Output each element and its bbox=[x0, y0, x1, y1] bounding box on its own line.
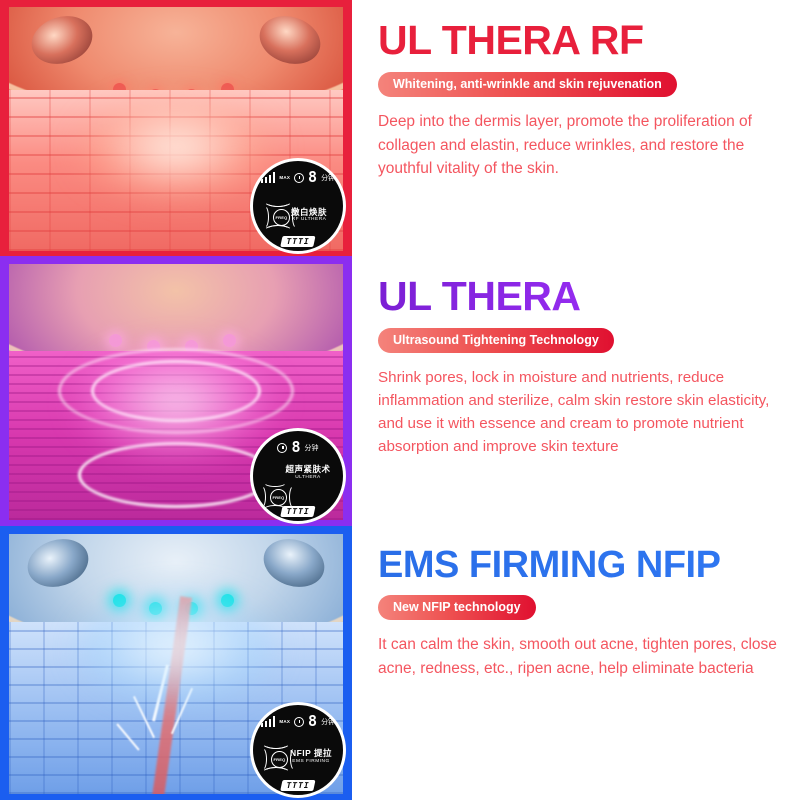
device-status-dial: MAX 8 分钟 FREQ NFIP 提拉 EMS FIRMING bbox=[250, 702, 346, 798]
feature-content-ulthera: UL THERA Ultrasound Tightening Technolog… bbox=[352, 256, 800, 526]
timer-unit: 分钟 bbox=[305, 443, 319, 453]
device-status-dial: 8 分钟 超声紧肤术 ULTHERA FREQ TTTI bbox=[250, 428, 346, 524]
dial-mode-cn: 超声紧肤术 bbox=[277, 465, 339, 475]
feature-panel-ulthera-rf: MAX 8 分钟 FREQ 嫩白焕肤 RF ULTHERA bbox=[0, 0, 800, 256]
energy-glow bbox=[72, 92, 279, 204]
panel-description: It can calm the skin, smooth out acne, t… bbox=[378, 633, 778, 680]
brand-tag: TTTI bbox=[280, 780, 316, 791]
panel-badge: Ultrasound Tightening Technology bbox=[378, 328, 614, 353]
panel-title: EMS FIRMING NFIP bbox=[378, 546, 786, 584]
dial-status-row: MAX 8 分钟 bbox=[253, 170, 343, 185]
product-image-ulthera: 8 分钟 超声紧肤术 ULTHERA FREQ TTTI bbox=[0, 256, 352, 526]
energy-glow bbox=[72, 343, 279, 461]
led-array bbox=[9, 37, 343, 61]
panel-description: Deep into the dermis layer, promote the … bbox=[378, 110, 778, 181]
timer-value: 8 bbox=[308, 714, 317, 729]
timer-unit: 分钟 bbox=[321, 717, 335, 727]
dial-mode-label: NFIP 提拉 EMS FIRMING bbox=[282, 749, 340, 764]
led-light bbox=[223, 334, 236, 347]
signal-bars-icon bbox=[261, 172, 276, 183]
infographic-sheet: MAX 8 分钟 FREQ 嫩白焕肤 RF ULTHERA bbox=[0, 0, 800, 800]
signal-max-label: MAX bbox=[279, 175, 290, 180]
product-image-ulthera-rf: MAX 8 分钟 FREQ 嫩白焕肤 RF ULTHERA bbox=[0, 0, 352, 256]
feature-panel-ulthera: 8 分钟 超声紧肤术 ULTHERA FREQ TTTI UL THERA bbox=[0, 256, 800, 526]
clock-icon bbox=[294, 717, 304, 727]
panel-title: UL THERA bbox=[378, 276, 786, 317]
device-status-dial: MAX 8 分钟 FREQ 嫩白焕肤 RF ULTHERA bbox=[250, 158, 346, 254]
freq-badge: FREQ bbox=[270, 489, 287, 506]
signal-max-label: MAX bbox=[279, 719, 290, 724]
dial-status-row: 8 分钟 bbox=[253, 440, 343, 455]
brand-tag: TTTI bbox=[280, 236, 316, 247]
clock-icon bbox=[277, 443, 287, 453]
panel-description: Shrink pores, lock in moisture and nutri… bbox=[378, 366, 783, 458]
signal-bars-icon bbox=[261, 716, 276, 727]
led-array bbox=[9, 564, 343, 588]
panel-badge: Whitening, anti-wrinkle and skin rejuven… bbox=[378, 72, 677, 97]
timer-unit: 分钟 bbox=[321, 173, 335, 183]
led-array bbox=[9, 294, 343, 318]
dial-mode-cn: NFIP 提拉 bbox=[282, 749, 340, 759]
panel-title: UL THERA RF bbox=[378, 20, 786, 61]
timer-value: 8 bbox=[291, 440, 300, 455]
dial-status-row: MAX 8 分钟 bbox=[253, 714, 343, 729]
feature-content-ulthera-rf: UL THERA RF Whitening, anti-wrinkle and … bbox=[352, 0, 800, 256]
panel-badge: New NFIP technology bbox=[378, 595, 536, 620]
led-light bbox=[109, 334, 122, 347]
feature-content-ems-firming: EMS FIRMING NFIP New NFIP technology It … bbox=[352, 526, 800, 800]
energy-glow bbox=[72, 589, 279, 709]
clock-icon bbox=[294, 173, 304, 183]
product-image-ems-firming: MAX 8 分钟 FREQ NFIP 提拉 EMS FIRMING bbox=[0, 526, 352, 800]
feature-panel-ems-firming-nfip: MAX 8 分钟 FREQ NFIP 提拉 EMS FIRMING bbox=[0, 526, 800, 800]
dial-mode-label: 嫩白焕肤 RF ULTHERA bbox=[280, 208, 338, 223]
timer-value: 8 bbox=[308, 170, 317, 185]
brand-tag: TTTI bbox=[280, 506, 316, 517]
dial-mode-en: EMS FIRMING bbox=[282, 759, 340, 765]
dial-mode-en: RF ULTHERA bbox=[280, 217, 338, 223]
